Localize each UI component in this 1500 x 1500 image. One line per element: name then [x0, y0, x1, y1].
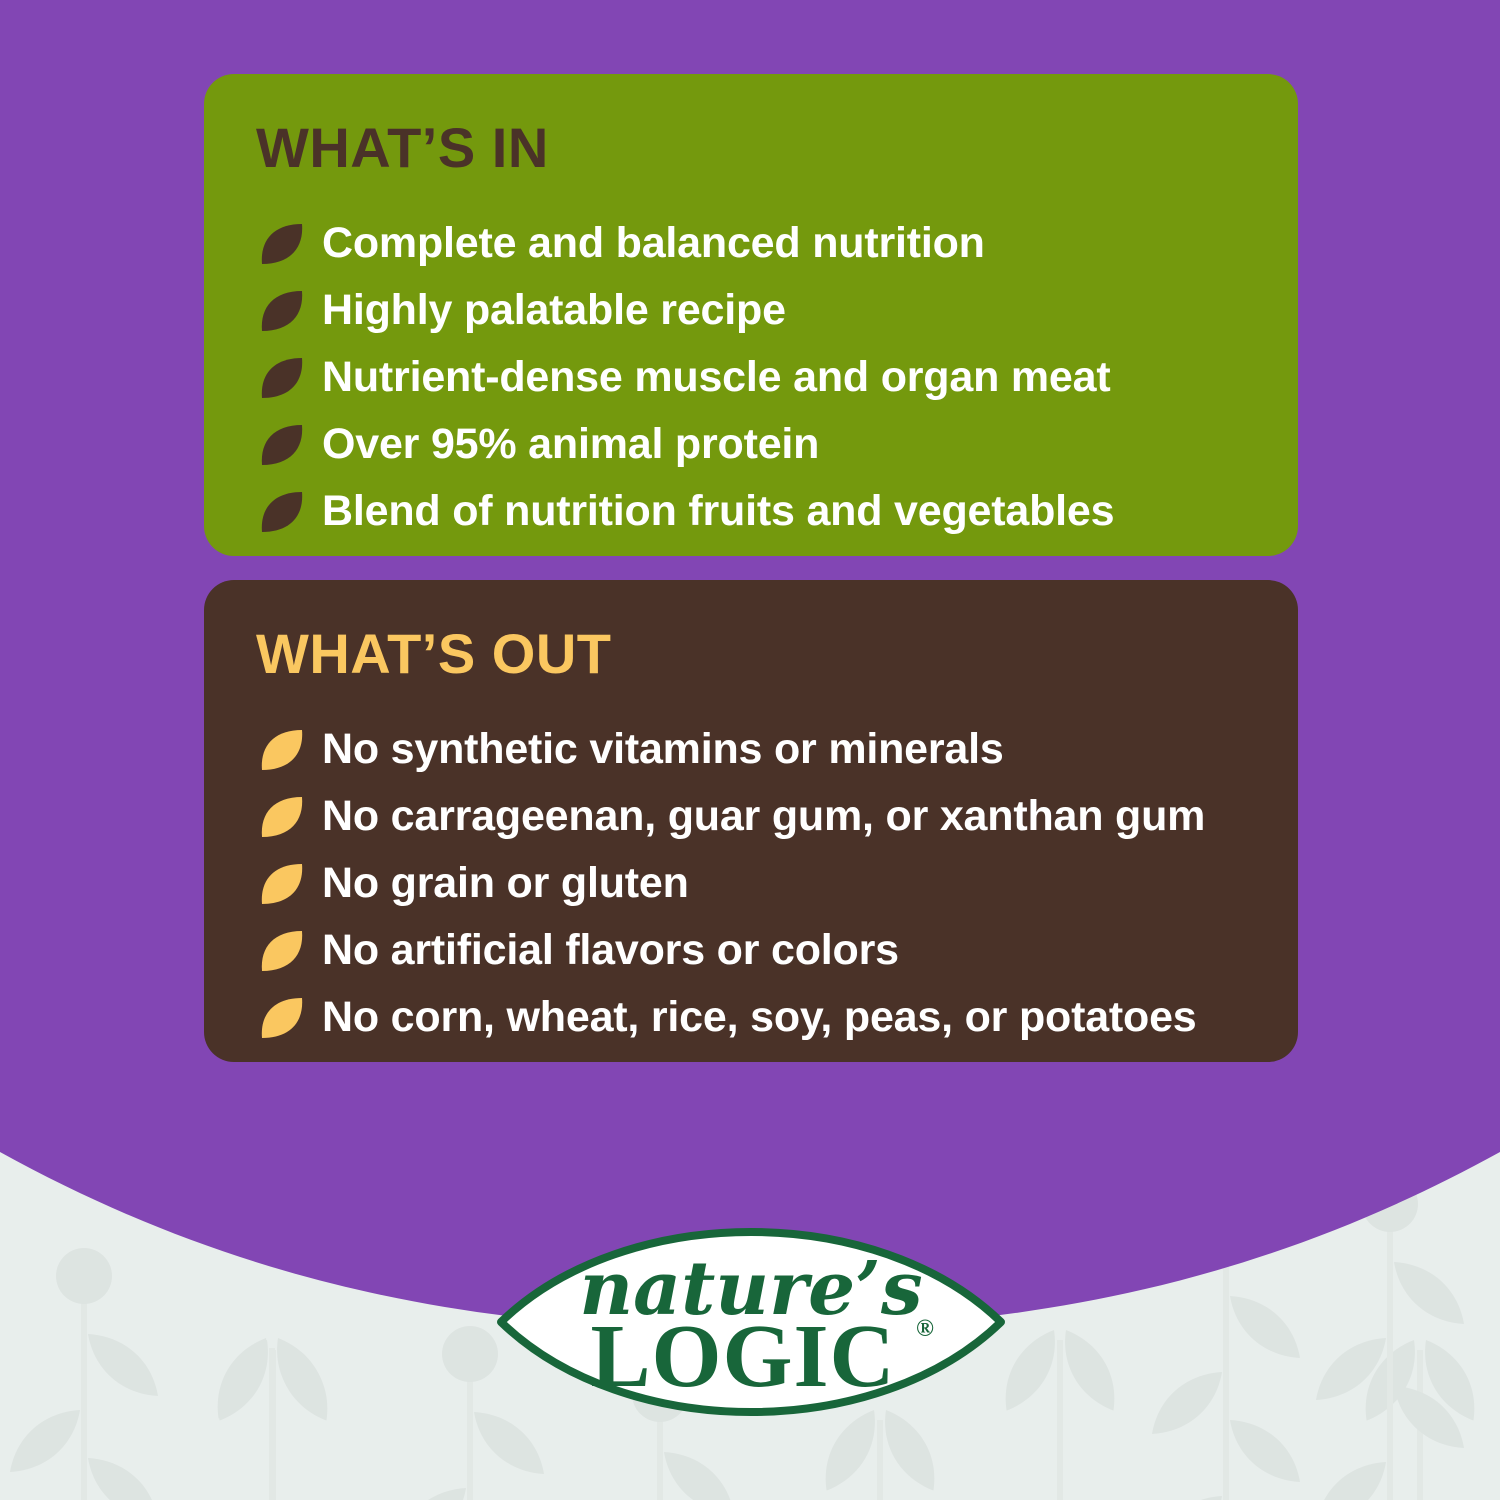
list-item: Highly palatable recipe — [256, 277, 1298, 344]
whats-out-panel: WHAT’S OUT No synthetic vitamins or mine… — [204, 580, 1298, 1062]
leaf-bullet-icon — [256, 992, 308, 1044]
promo-graphic: WHAT’S IN Complete and balanced nutritio… — [0, 0, 1500, 1500]
list-item-label: No carrageenan, guar gum, or xanthan gum — [322, 795, 1205, 838]
list-item: No grain or gluten — [256, 850, 1298, 917]
leaf-bullet-icon — [256, 724, 308, 776]
list-item-label: Complete and balanced nutrition — [322, 222, 985, 265]
list-item: No carrageenan, guar gum, or xanthan gum — [256, 783, 1298, 850]
list-item: No corn, wheat, rice, soy, peas, or pota… — [256, 984, 1298, 1051]
list-item-label: Blend of nutrition fruits and vegetables — [322, 490, 1114, 533]
logo-serif-word: LOGIC — [590, 1307, 895, 1406]
natures-logic-logo: nature’s LOGIC ® — [495, 1196, 1007, 1448]
whats-in-title: WHAT’S IN — [256, 120, 1298, 176]
registered-mark: ® — [916, 1316, 934, 1342]
list-item: Nutrient-dense muscle and organ meat — [256, 344, 1298, 411]
leaf-bullet-icon — [256, 486, 308, 538]
list-item: No synthetic vitamins or minerals — [256, 716, 1298, 783]
list-item-label: No corn, wheat, rice, soy, peas, or pota… — [322, 996, 1197, 1039]
leaf-bullet-icon — [256, 285, 308, 337]
list-item: No artificial flavors or colors — [256, 917, 1298, 984]
list-item-label: No synthetic vitamins or minerals — [322, 728, 1004, 771]
list-item-label: Nutrient-dense muscle and organ meat — [322, 356, 1110, 399]
whats-in-panel: WHAT’S IN Complete and balanced nutritio… — [204, 74, 1298, 556]
leaf-outline-badge-icon: nature’s LOGIC ® — [495, 1196, 1007, 1448]
whats-out-title: WHAT’S OUT — [256, 626, 1298, 682]
whats-in-list: Complete and balanced nutrition Highly p… — [256, 210, 1298, 545]
list-item-label: No grain or gluten — [322, 862, 689, 905]
leaf-bullet-icon — [256, 352, 308, 404]
list-item: Blend of nutrition fruits and vegetables — [256, 478, 1298, 545]
leaf-bullet-icon — [256, 925, 308, 977]
whats-out-list: No synthetic vitamins or minerals No car… — [256, 716, 1298, 1051]
list-item: Over 95% animal protein — [256, 411, 1298, 478]
leaf-bullet-icon — [256, 791, 308, 843]
leaf-bullet-icon — [256, 858, 308, 910]
list-item-label: Over 95% animal protein — [322, 423, 819, 466]
leaf-bullet-icon — [256, 419, 308, 471]
list-item-label: No artificial flavors or colors — [322, 929, 899, 972]
list-item: Complete and balanced nutrition — [256, 210, 1298, 277]
leaf-bullet-icon — [256, 218, 308, 270]
list-item-label: Highly palatable recipe — [322, 289, 786, 332]
